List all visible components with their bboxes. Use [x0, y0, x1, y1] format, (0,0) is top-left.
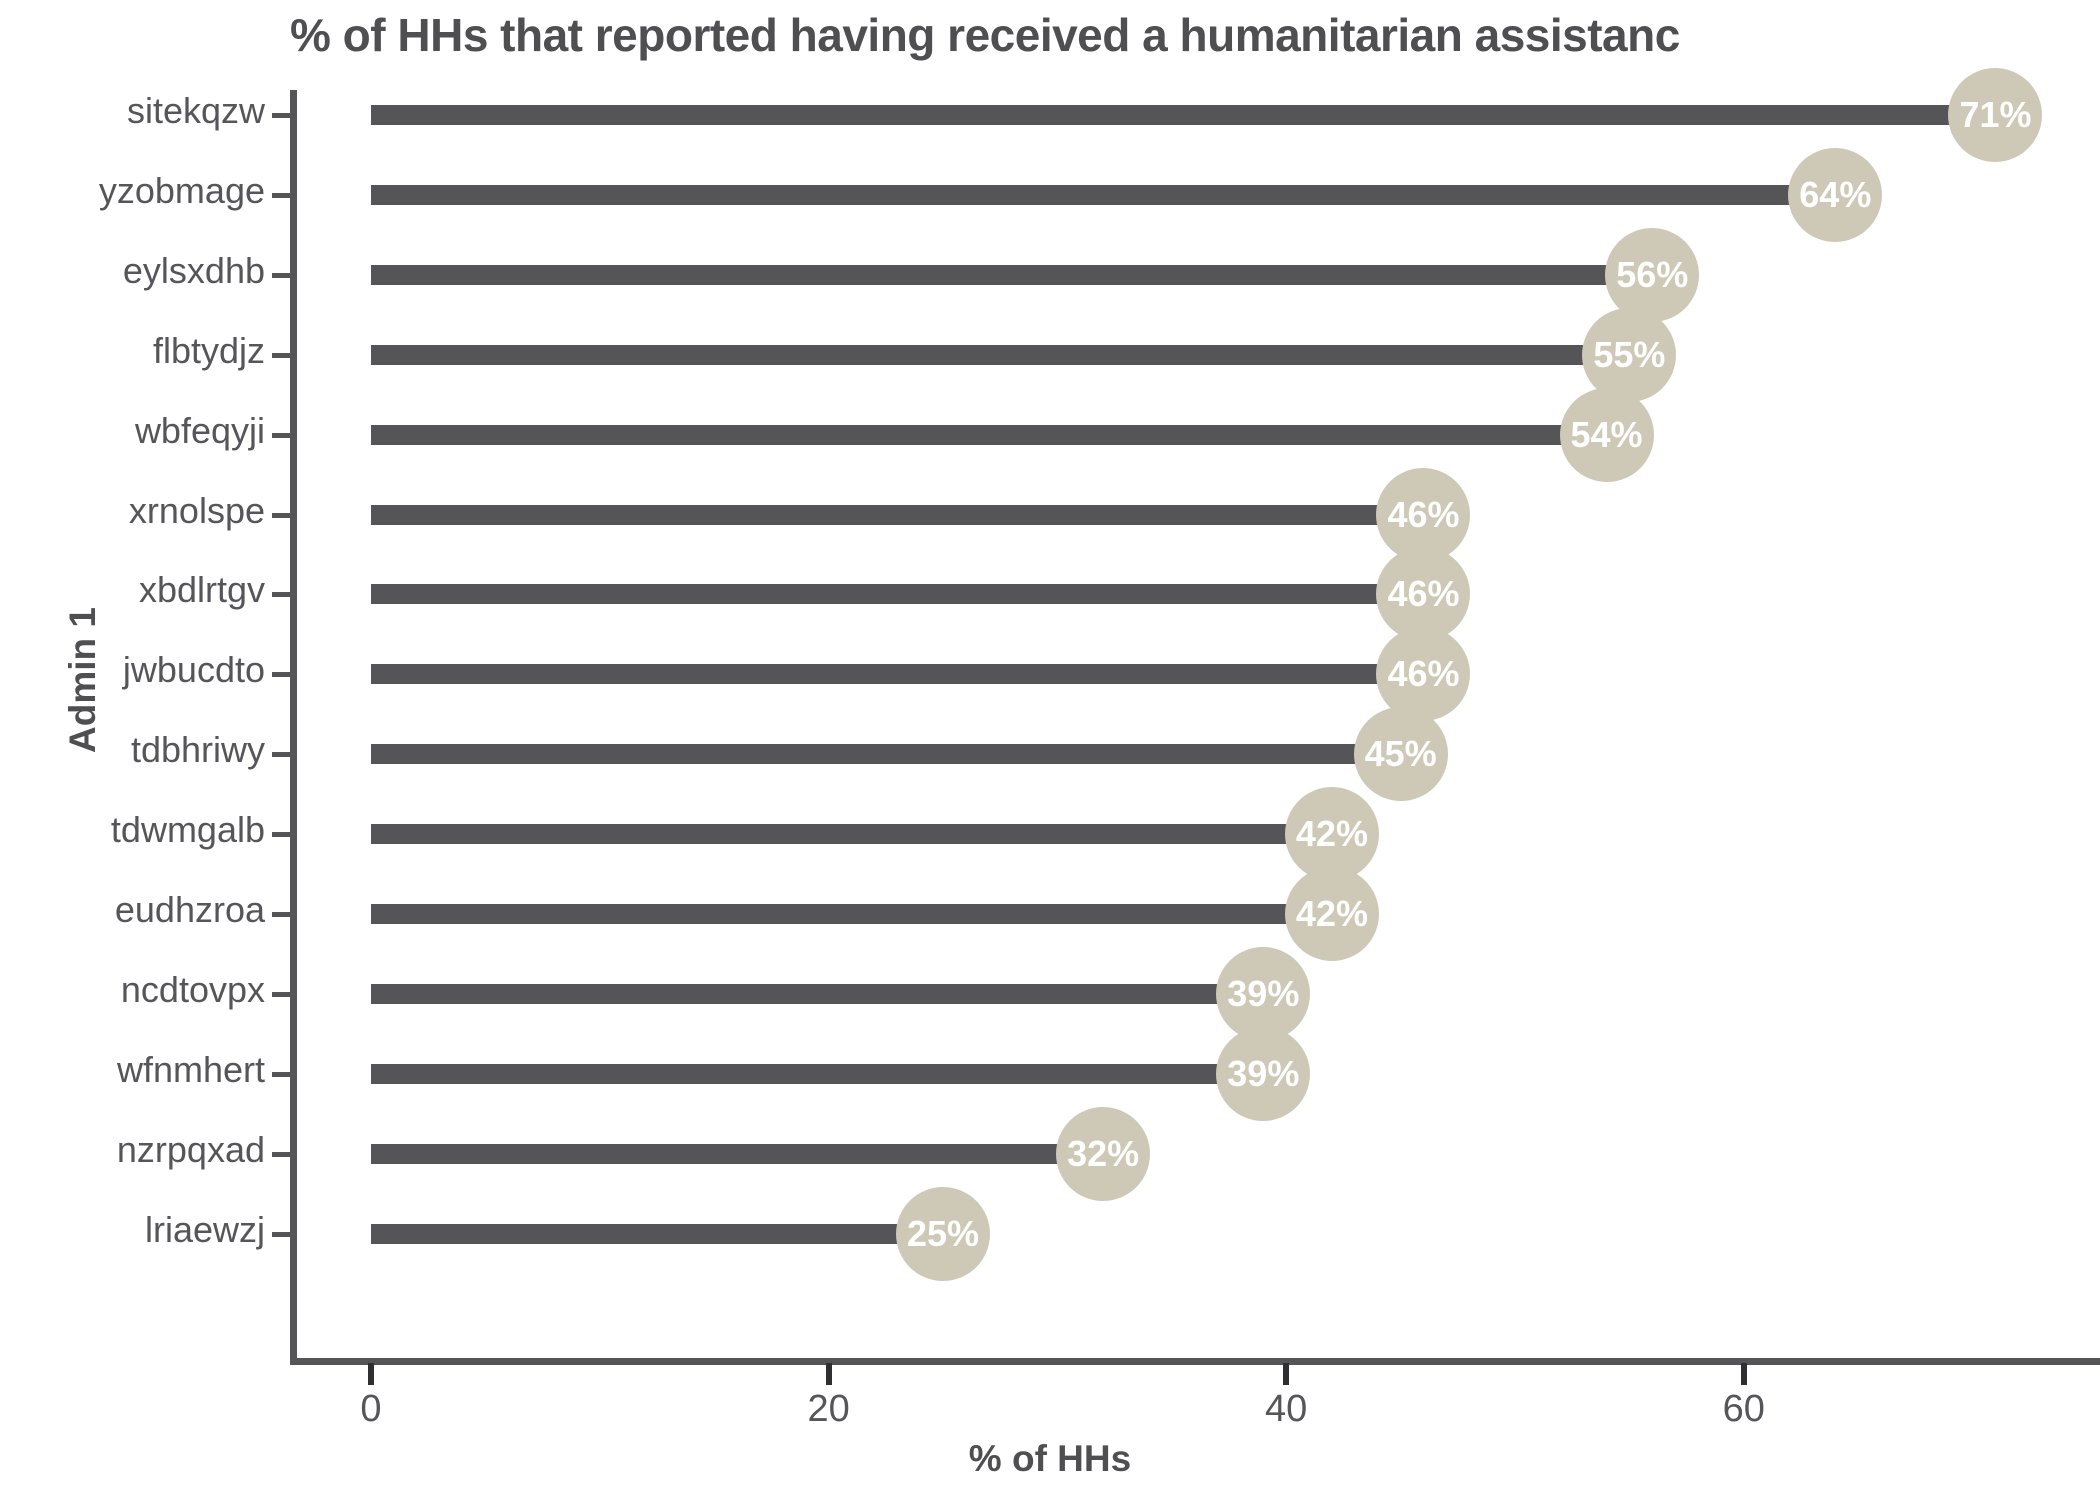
y-axis-tick-label: wbfeqyji: [0, 410, 265, 452]
y-axis-tick: [272, 592, 292, 597]
y-axis-tick-label: wfnmhert: [0, 1049, 265, 1091]
value-bubble[interactable]: 54%: [1560, 388, 1654, 482]
value-label: 55%: [1593, 334, 1665, 376]
value-label: 42%: [1296, 893, 1368, 935]
value-label: 39%: [1227, 1053, 1299, 1095]
value-label: 39%: [1227, 973, 1299, 1015]
y-axis-line: [290, 90, 297, 1362]
y-axis-tick: [272, 1152, 292, 1157]
value-label: 56%: [1616, 254, 1688, 296]
x-axis-tick: [826, 1363, 832, 1385]
x-axis-tick: [1283, 1363, 1289, 1385]
x-axis-tick-label: 0: [311, 1388, 431, 1431]
y-axis-tick-label: eylsxdhb: [0, 250, 265, 292]
lollipop-bar[interactable]: [371, 904, 1332, 924]
y-axis-tick-label: lriaewzj: [0, 1209, 265, 1251]
page-title: % of HHs that reported having received a…: [290, 8, 2100, 62]
y-axis-tick-label: tdwmgalb: [0, 809, 265, 851]
y-axis-tick: [272, 513, 292, 518]
lollipop-bar[interactable]: [371, 1144, 1103, 1164]
value-bubble[interactable]: 64%: [1788, 148, 1882, 242]
x-axis-tick-label: 60: [1684, 1388, 1804, 1431]
value-bubble[interactable]: 56%: [1605, 228, 1699, 322]
x-axis-tick-label: 40: [1226, 1388, 1346, 1431]
x-axis-tick: [368, 1363, 374, 1385]
y-axis-tick: [272, 912, 292, 917]
y-axis-tick: [272, 672, 292, 677]
y-axis-tick: [272, 113, 292, 118]
y-axis-tick: [272, 992, 292, 997]
y-axis-tick-label: ncdtovpx: [0, 969, 265, 1011]
value-label: 64%: [1799, 174, 1871, 216]
value-label: 25%: [907, 1213, 979, 1255]
lollipop-bar[interactable]: [371, 505, 1423, 525]
lollipop-bar[interactable]: [371, 105, 1995, 125]
value-label: 46%: [1387, 494, 1459, 536]
value-label: 54%: [1570, 414, 1642, 456]
y-axis-tick: [272, 832, 292, 837]
y-axis-tick: [272, 1072, 292, 1077]
value-label: 32%: [1067, 1133, 1139, 1175]
y-axis-tick-label: eudhzroa: [0, 889, 265, 931]
value-label: 71%: [1959, 94, 2031, 136]
value-bubble[interactable]: 45%: [1354, 707, 1448, 801]
y-axis-tick: [272, 433, 292, 438]
lollipop-bar[interactable]: [371, 584, 1423, 604]
y-axis-tick-label: nzrpqxad: [0, 1129, 265, 1171]
value-bubble[interactable]: 71%: [1948, 68, 2042, 162]
lollipop-bar[interactable]: [371, 425, 1607, 445]
lollipop-bar[interactable]: [371, 185, 1835, 205]
lollipop-bar[interactable]: [371, 984, 1263, 1004]
value-bubble[interactable]: 32%: [1056, 1107, 1150, 1201]
y-axis-tick: [272, 273, 292, 278]
y-axis-tick-label: xbdlrtgv: [0, 569, 265, 611]
y-axis-tick: [272, 752, 292, 757]
x-axis-title: % of HHs: [880, 1438, 1220, 1480]
value-bubble[interactable]: 39%: [1216, 1027, 1310, 1121]
lollipop-bar[interactable]: [371, 1224, 943, 1244]
y-axis-tick-label: jwbucdto: [0, 649, 265, 691]
value-bubble[interactable]: 25%: [896, 1187, 990, 1281]
lollipop-bar[interactable]: [371, 345, 1629, 365]
x-axis-tick-label: 20: [769, 1388, 889, 1431]
y-axis-tick-label: tdbhriwy: [0, 729, 265, 771]
value-bubble[interactable]: 55%: [1582, 308, 1676, 402]
y-axis-tick-label: flbtydjz: [0, 330, 265, 372]
lollipop-bar[interactable]: [371, 824, 1332, 844]
lollipop-chart: % of HHs that reported having received a…: [0, 0, 2100, 1500]
lollipop-bar[interactable]: [371, 744, 1401, 764]
lollipop-bar[interactable]: [371, 1064, 1263, 1084]
lollipop-bar[interactable]: [371, 265, 1652, 285]
y-axis-tick-label: yzobmage: [0, 170, 265, 212]
y-axis-tick-label: sitekqzw: [0, 90, 265, 132]
x-axis-line: [290, 1358, 2100, 1365]
y-axis-tick: [272, 1232, 292, 1237]
x-axis-tick: [1741, 1363, 1747, 1385]
value-label: 46%: [1387, 573, 1459, 615]
y-axis-tick-label: xrnolspe: [0, 490, 265, 532]
value-label: 42%: [1296, 813, 1368, 855]
lollipop-bar[interactable]: [371, 664, 1423, 684]
value-label: 45%: [1365, 733, 1437, 775]
value-bubble[interactable]: 42%: [1285, 867, 1379, 961]
y-axis-tick: [272, 353, 292, 358]
y-axis-tick: [272, 193, 292, 198]
value-label: 46%: [1387, 653, 1459, 695]
